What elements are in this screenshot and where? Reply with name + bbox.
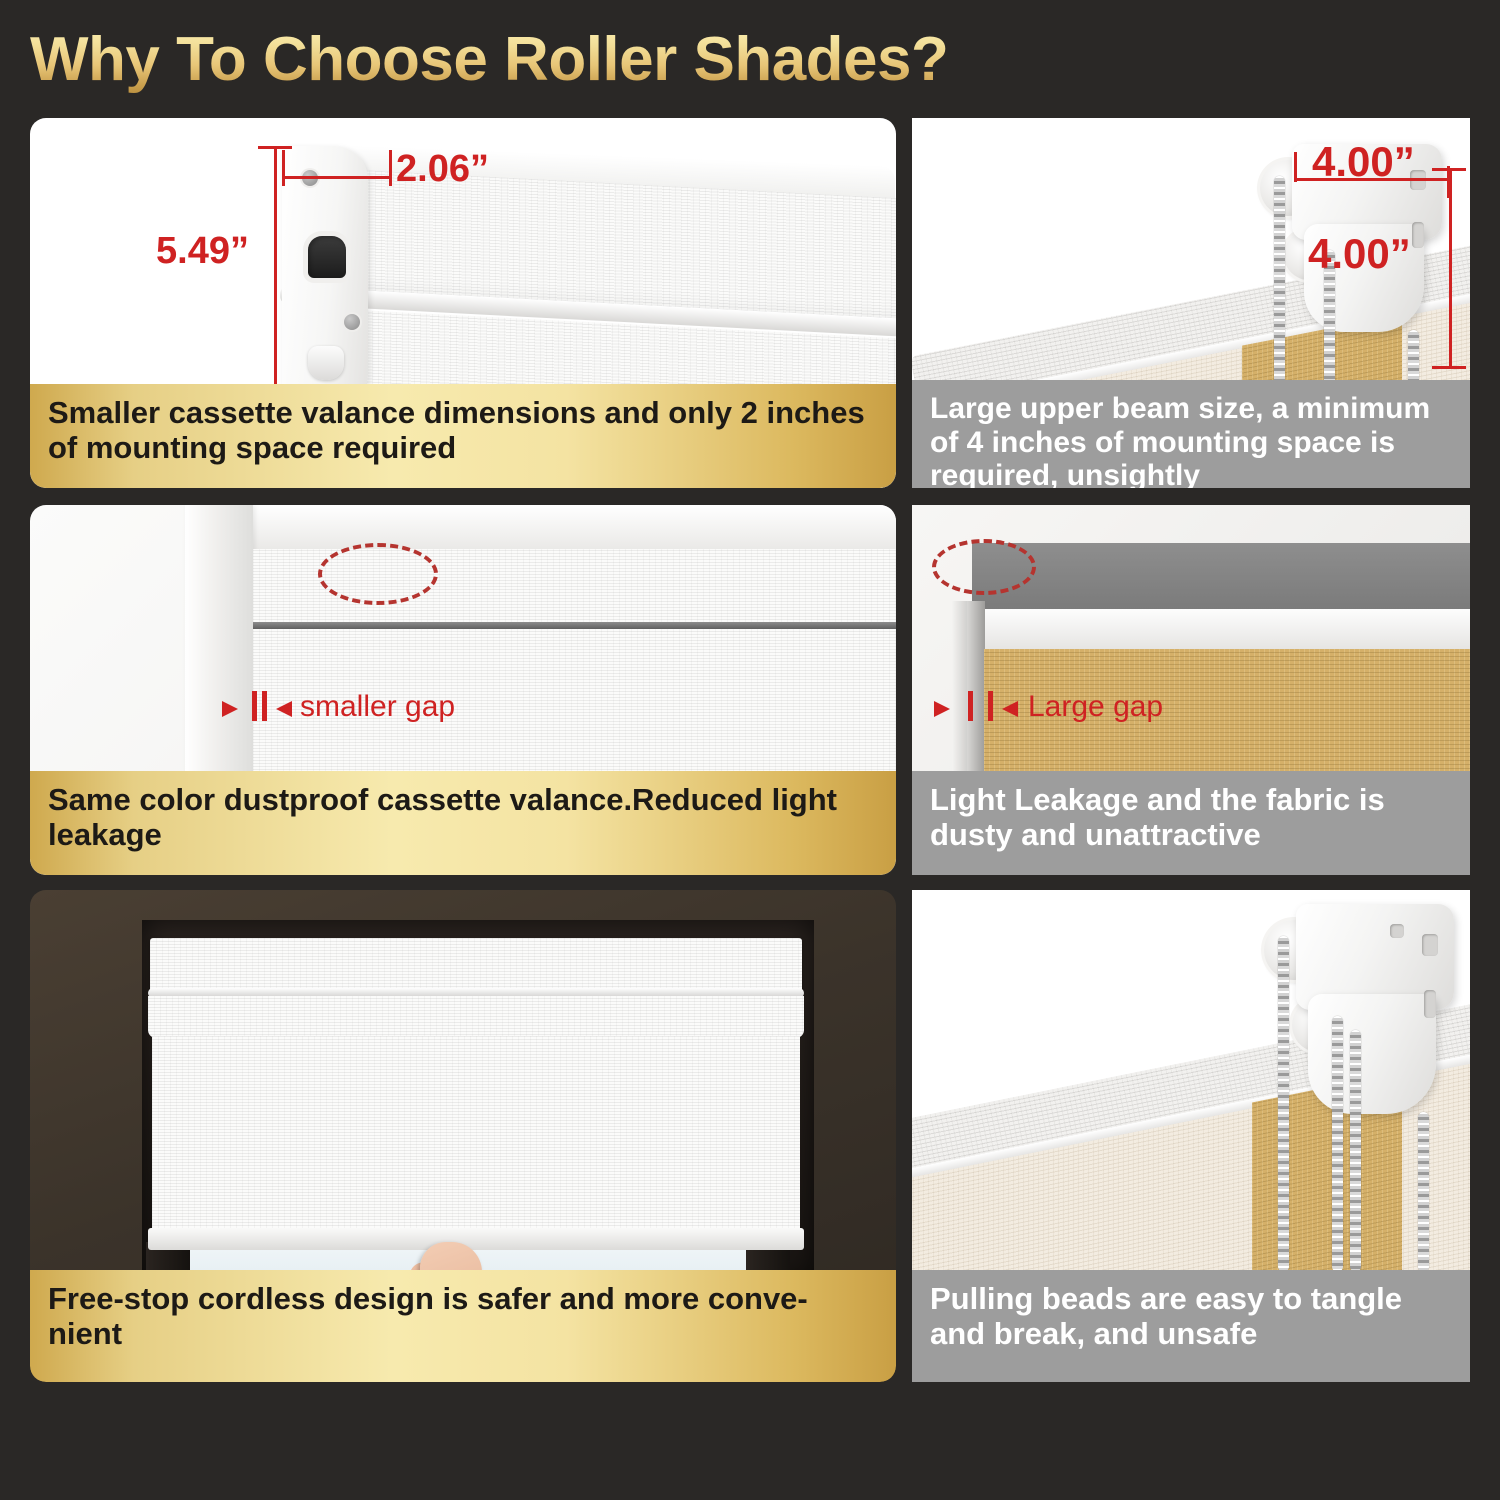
- panel-caption: Free-stop cordless design is safer and m…: [30, 1270, 896, 1382]
- page-title: Why To Choose Roller Shades?: [30, 24, 948, 95]
- panel-pro-cassette-size: 2.06” 5.49” Smaller cassette valance dim…: [30, 118, 896, 488]
- panel-pro-cordless: Free-stop cordless design is safer and m…: [30, 890, 896, 1382]
- bead-chain: [1418, 1112, 1429, 1272]
- gap-marker-right: [988, 691, 993, 721]
- dim-tick-right: [389, 150, 392, 186]
- shade-fabric: [152, 1036, 800, 1232]
- valance-gap: [253, 622, 896, 629]
- dim-tick-bottom: [1432, 366, 1466, 369]
- panel-con-pull-beads: Pulling beads are easy to tangle and bre…: [912, 890, 1470, 1382]
- bracket-slot: [308, 236, 346, 278]
- dim-tick-top: [258, 146, 292, 149]
- panel-con-beam-size: 4.00” 4.00” Large upper beam size, a min…: [912, 118, 1470, 488]
- panel-pro-small-gap: smaller gap Same color dustproof cassett…: [30, 505, 896, 875]
- gap-area: [952, 601, 968, 773]
- panel-caption: Same color dustproof cassette valance.Re…: [30, 771, 896, 875]
- bracket-slot: [1422, 934, 1438, 956]
- arrow-left-icon: [1002, 701, 1018, 717]
- bracket-edge: [967, 601, 985, 773]
- dimension-label-width: 4.00”: [1312, 138, 1415, 186]
- bottom-clip: [308, 346, 344, 380]
- dim-tick-top: [1432, 168, 1466, 171]
- bracket-slot: [1390, 924, 1404, 938]
- bead-chain: [1350, 1030, 1361, 1272]
- dim-tick-left: [282, 150, 285, 186]
- panel-caption: Large upper beam size, a minimum of 4 in…: [912, 380, 1470, 488]
- gap-label: Large gap: [1028, 690, 1163, 724]
- dimension-label-height: 4.00”: [1308, 230, 1411, 278]
- upper-beam: [972, 543, 1470, 609]
- panel-caption: Pulling beads are easy to tangle and bre…: [912, 1270, 1470, 1382]
- dim-line-height: [1449, 168, 1452, 368]
- bracket-slot: [1412, 222, 1424, 248]
- roller-tube: [972, 609, 1470, 649]
- dimension-label-height: 5.49”: [156, 230, 249, 273]
- gap-marker-right: [262, 691, 267, 721]
- panel-con-large-gap: Large gap Light Leakage and the fabric i…: [912, 505, 1470, 875]
- dim-line-width: [282, 176, 392, 179]
- bracket-slot: [1424, 990, 1436, 1018]
- gap-marker-left: [968, 691, 973, 721]
- arrow-left-icon: [276, 701, 292, 717]
- dimension-label-width: 2.06”: [396, 148, 489, 191]
- highlight-ellipse-icon: [318, 543, 438, 605]
- panel-caption: Smaller cassette valance dimensions and …: [30, 384, 896, 488]
- roller-tube: [148, 996, 804, 1038]
- panel-caption: Light Leakage and the fabric is dusty an…: [912, 771, 1470, 875]
- window-frame-top: [185, 505, 896, 551]
- cassette-valance: [150, 938, 802, 990]
- gap-marker-left: [252, 691, 257, 721]
- screw-icon: [344, 314, 360, 330]
- mounting-bracket-lower: [1308, 994, 1436, 1114]
- arrow-right-icon: [222, 701, 238, 717]
- gap-label: smaller gap: [300, 690, 455, 724]
- highlight-ellipse-icon: [932, 539, 1036, 595]
- bead-chain: [1278, 936, 1289, 1272]
- window-frame-side: [185, 505, 253, 773]
- page-header: Why To Choose Roller Shades?: [0, 0, 1500, 118]
- dim-line-height: [274, 146, 277, 404]
- arrow-right-icon: [934, 701, 950, 717]
- bead-chain: [1332, 1016, 1343, 1272]
- bottom-rail: [148, 1228, 804, 1250]
